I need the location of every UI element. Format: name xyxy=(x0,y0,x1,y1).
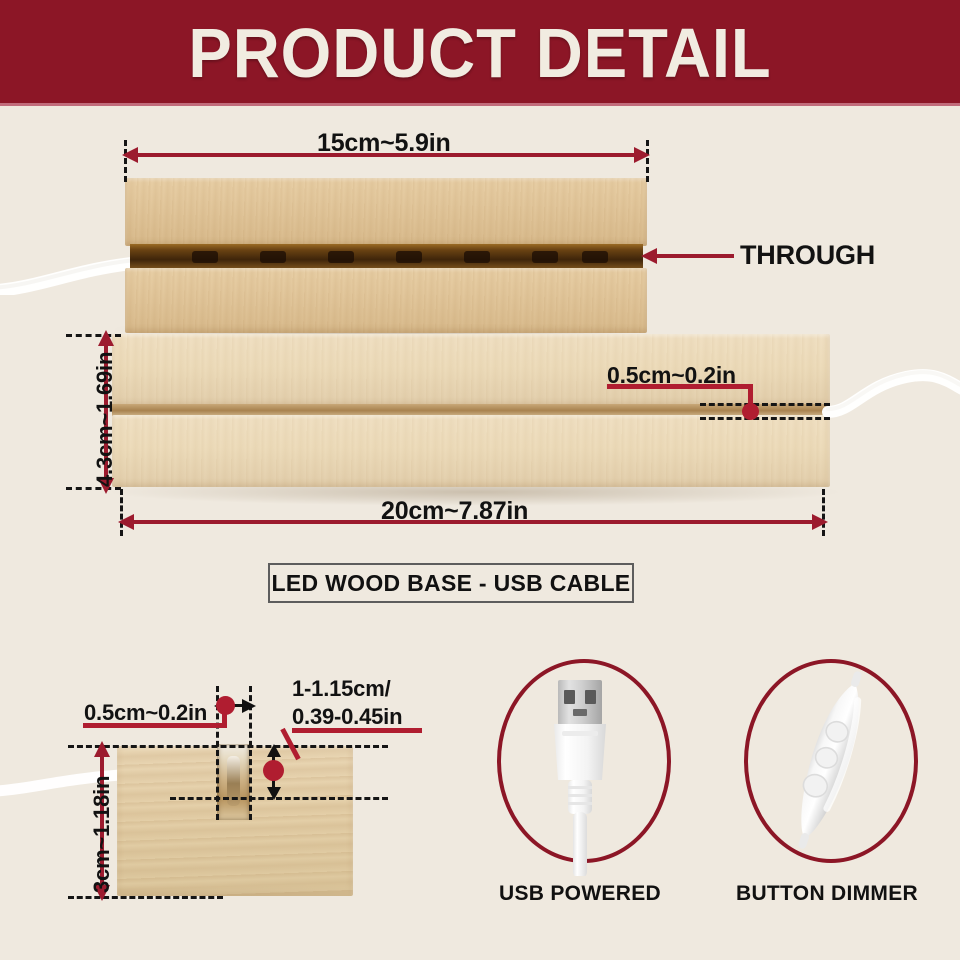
wood-plank-20cm-bottom xyxy=(112,415,830,487)
detail-depth-marker-dot xyxy=(263,760,284,781)
detail-label-depth-line2: 0.39-0.45in xyxy=(292,704,402,730)
through-arrowhead xyxy=(641,248,657,264)
dim-arrow-20cm-left xyxy=(118,514,134,530)
usb-powered-caption: USB POWERED xyxy=(470,882,690,906)
through-label: THROUGH xyxy=(740,240,875,271)
dim-label-gap: 0.5cm~0.2in xyxy=(607,362,736,389)
dim-arrow-15cm-right xyxy=(634,147,650,163)
led-strip-slot xyxy=(130,244,643,270)
dim-arrow-43-up xyxy=(98,330,114,346)
page-title: PRODUCT DETAIL xyxy=(34,13,927,93)
button-dimmer-caption: BUTTON DIMMER xyxy=(717,882,937,906)
gap-guide-top xyxy=(700,403,830,406)
detail-guide-top xyxy=(68,745,388,748)
wood-plank-15cm-top xyxy=(125,178,647,246)
dim-label-43cm: 4.3cm~1.69in xyxy=(92,352,118,487)
wood-block-15cm-bottom xyxy=(125,268,647,333)
detail-slot-width-arrow-right xyxy=(242,699,256,713)
gap-guide-bottom xyxy=(700,417,830,420)
usb-cable-right xyxy=(820,350,960,430)
main-caption-box: LED WOOD BASE - USB CABLE xyxy=(268,563,634,603)
detail-label-depth-line1: 1-1.15cm/ xyxy=(292,676,391,702)
detail-dim-arrow-up xyxy=(94,741,110,757)
gap-marker-dot xyxy=(742,403,759,420)
dim-label-15cm: 15cm~5.9in xyxy=(317,129,451,158)
main-caption-text: LED WOOD BASE - USB CABLE xyxy=(272,570,631,597)
header-underline xyxy=(0,103,960,106)
detail-guide-bottom xyxy=(68,896,223,899)
dim-label-20cm: 20cm~7.87in xyxy=(381,497,528,526)
through-arrow-line xyxy=(652,254,734,258)
button-dimmer-icon xyxy=(760,665,900,855)
detail-depth-arrow-down xyxy=(267,787,281,800)
detail-label-3cm: 3cm~1.18in xyxy=(89,776,115,893)
detail-gap-marker-dot xyxy=(216,696,235,715)
product-detail-infographic: PRODUCT DETAIL 15cm~5.9in THROUGH xyxy=(0,0,960,960)
detail-depth-arrow-up xyxy=(267,744,281,757)
dim-arrow-15cm-left xyxy=(122,147,138,163)
usb-connector-icon xyxy=(540,676,620,876)
dim-arrow-20cm-right xyxy=(812,514,828,530)
detail-label-slot-width: 0.5cm~0.2in xyxy=(84,700,207,726)
